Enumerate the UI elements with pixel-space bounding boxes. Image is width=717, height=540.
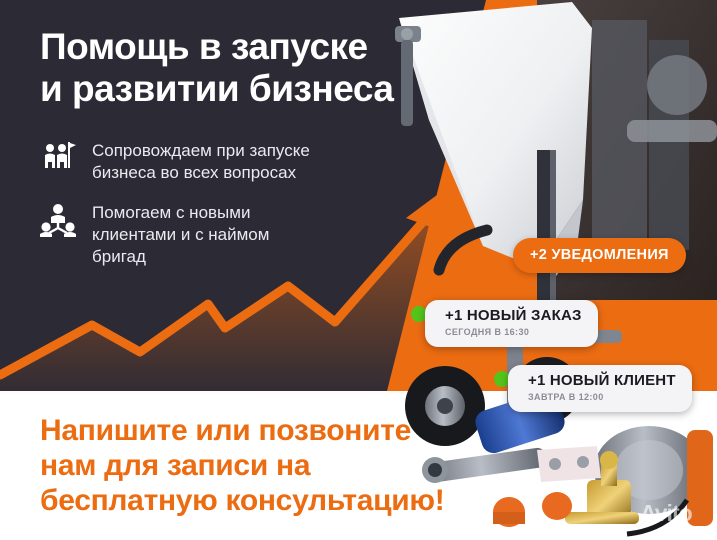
notification-new-order: +1 НОВЫЙ ЗАКАЗ СЕГОДНЯ В 16:30 (425, 300, 598, 347)
notification-timestamp: ЗАВТРА В 12:00 (528, 393, 676, 403)
headline-line-1: Помощь в запуске (40, 26, 368, 67)
feature-line-3: бригад (92, 247, 146, 266)
cta-line-2: нам для записи на (40, 449, 480, 484)
call-to-action-text: Напишите или позвоните нам для записи на… (40, 414, 480, 518)
two-people-with-flag-icon (38, 138, 78, 178)
notification-title: +1 НОВЫЙ КЛИЕНТ (528, 373, 676, 390)
cta-line-1: Напишите или позвоните (40, 414, 480, 449)
notification-new-client: +1 НОВЫЙ КЛИЕНТ ЗАВТРА В 12:00 (508, 365, 692, 412)
team-group-icon (38, 200, 78, 240)
feature-item-clients: Помогаем с новыми клиентами и с наймом б… (38, 200, 368, 268)
avito-watermark: Avito (640, 500, 692, 527)
notification-title: +1 НОВЫЙ ЗАКАЗ (445, 308, 582, 325)
notification-timestamp: СЕГОДНЯ В 16:30 (445, 328, 582, 338)
headline-line-2: и развитии бизнеса (40, 68, 460, 110)
feature-line-2: бизнеса во всех вопросах (92, 163, 296, 182)
page-title: Помощь в запуске и развитии бизнеса (40, 26, 460, 110)
feature-line-2: клиентами и с наймом (92, 225, 269, 244)
feature-item-support-text: Сопровождаем при запуске бизнеса во всех… (92, 138, 310, 184)
feature-line-1: Сопровождаем при запуске (92, 141, 310, 160)
notification-summary-badge: +2 УВЕДОМЛЕНИЯ (513, 238, 686, 273)
cta-line-3: бесплатную консультацию! (40, 484, 480, 519)
advertisement-banner: Помощь в запуске и развитии бизнеса Сопр… (0, 0, 717, 540)
feature-item-support: Сопровождаем при запуске бизнеса во всех… (38, 138, 368, 184)
feature-item-clients-text: Помогаем с новыми клиентами и с наймом б… (92, 200, 269, 268)
feature-line-1: Помогаем с новыми (92, 203, 250, 222)
feature-list: Сопровождаем при запуске бизнеса во всех… (38, 138, 368, 284)
